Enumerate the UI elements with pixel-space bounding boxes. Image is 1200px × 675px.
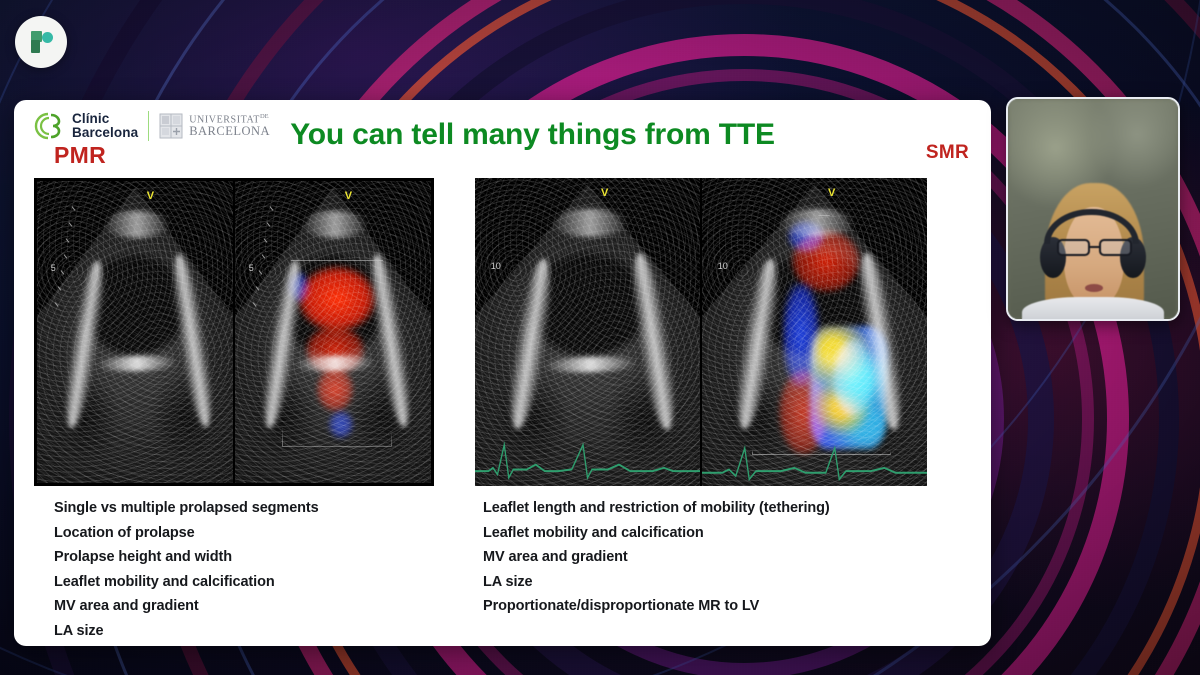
smr-doppler-depth-label: 10 — [718, 261, 728, 271]
smr-label: SMR — [926, 142, 969, 164]
pmr-2d-probe-marker: V — [147, 190, 154, 202]
list-item: Leaflet mobility and calcification — [483, 521, 991, 546]
pmr-color-doppler-echo[interactable]: 5 V — [233, 181, 431, 483]
slide-header: Clínic Barcelona — [14, 100, 991, 172]
list-item: Location of prolapse — [54, 521, 469, 546]
slide-title: You can tell many things from TTE — [14, 118, 991, 152]
smr-2d-echo[interactable]: 10 V — [475, 178, 700, 486]
screen: Clínic Barcelona — [0, 0, 1200, 675]
pmr-doppler-probe-marker: V — [345, 190, 352, 202]
brand-logo-icon[interactable] — [15, 16, 67, 68]
depth-ticks — [53, 205, 88, 350]
list-item: MV area and gradient — [54, 594, 469, 619]
smr-doppler-ecg-trace — [702, 435, 927, 484]
pmr-bullet-list: Single vs multiple prolapsed segments Lo… — [34, 496, 469, 643]
smr-doppler-probe-marker: V — [828, 187, 835, 199]
smr-2d-depth-label: 10 — [491, 261, 501, 271]
depth-ticks — [251, 205, 286, 350]
list-item: Prolapse height and width — [54, 545, 469, 570]
smr-color-doppler-echo[interactable]: 10 V — [700, 178, 927, 486]
smr-bullet-list: Leaflet length and restriction of mobili… — [475, 496, 991, 619]
pmr-doppler-depth-label: 5 — [249, 263, 254, 273]
list-item: Leaflet mobility and calcification — [54, 570, 469, 595]
brand-mark-shape — [28, 29, 54, 55]
smr-panel: 10 V — [469, 172, 991, 646]
list-item: Proportionate/disproportionate MR to LV — [483, 594, 991, 619]
presentation-slide[interactable]: Clínic Barcelona — [14, 100, 991, 646]
smr-2d-probe-marker: V — [601, 187, 608, 199]
list-item: MV area and gradient — [483, 545, 991, 570]
pmr-2d-depth-label: 5 — [51, 263, 56, 273]
list-item: Leaflet length and restriction of mobili… — [483, 496, 991, 521]
list-item: Single vs multiple prolapsed segments — [54, 496, 469, 521]
list-item: LA size — [54, 619, 469, 644]
pmr-label: PMR — [54, 142, 106, 169]
slide-body: 5 V — [14, 172, 991, 646]
pmr-panel: 5 V — [14, 172, 469, 646]
pmr-echo-images[interactable]: 5 V — [34, 178, 434, 486]
list-item: LA size — [483, 570, 991, 595]
smr-echo-images[interactable]: 10 V — [475, 178, 927, 486]
pmr-2d-echo[interactable]: 5 V — [37, 181, 233, 483]
speaker-video-tile[interactable] — [1006, 97, 1180, 321]
smr-2d-ecg-trace — [475, 435, 700, 484]
